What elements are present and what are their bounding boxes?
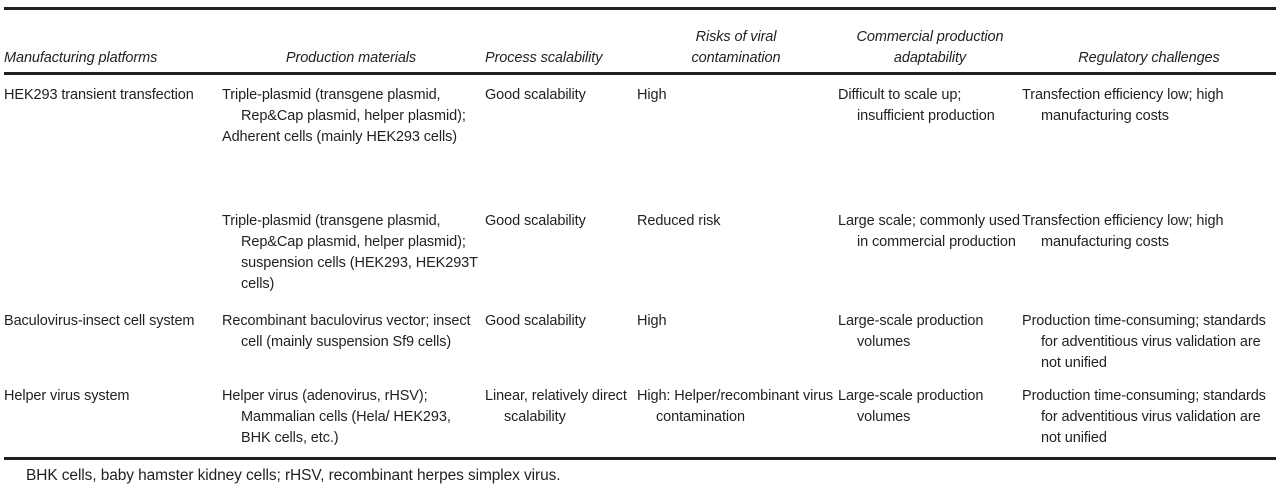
column-header-manufacturing-platforms: Manufacturing platforms [4,48,214,69]
cell-platform: Baculovirus-insect cell system [4,311,214,332]
cell-materials: Triple-plasmid (transgene plasmid, Rep&C… [222,211,480,295]
cell-materials-part-1: Triple-plasmid (transgene plasmid, Rep&C… [222,85,480,127]
cell-platform: HEK293 transient transfection [4,85,214,106]
cell-viral-risk: High [637,85,835,106]
cell-commercial-adaptability: Large scale; commonly used in commercial… [838,211,1022,253]
cell-materials: Helper virus (adenovirus, rHSV); Mammali… [222,386,480,449]
cell-commercial-adaptability: Large-scale production volumes [838,386,1022,428]
cell-viral-risk: High: Helper/recombinant virus contamina… [637,386,835,428]
cell-commercial-adaptability: Difficult to scale up; insufficient prod… [838,85,1022,127]
cell-viral-risk: Reduced risk [637,211,835,232]
cell-regulatory-challenges: Transfection efficiency low; high manufa… [1022,85,1276,127]
column-header-commercial-line-2: adaptability [838,48,1022,69]
cell-materials: Triple-plasmid (transgene plasmid, Rep&C… [222,85,480,148]
cell-scalability: Good scalability [485,211,633,232]
cell-scalability: Good scalability [485,85,633,106]
column-header-production-materials: Production materials [222,48,480,69]
cell-platform: Helper virus system [4,386,214,407]
column-header-viral-line-2: contamination [637,48,835,69]
cell-scalability: Linear, relatively direct scalability [485,386,633,428]
cell-regulatory-challenges: Production time-consuming; standards for… [1022,311,1276,374]
table-footnote: BHK cells, baby hamster kidney cells; rH… [26,466,560,486]
table-header-rule [4,72,1276,75]
cell-materials: Recombinant baculovirus vector; insect c… [222,311,480,353]
cell-commercial-adaptability: Large-scale production volumes [838,311,1022,353]
column-header-regulatory-challenges: Regulatory challenges [1022,48,1276,69]
cell-materials-part-2: Adherent cells (mainly HEK293 cells) [222,127,480,148]
cell-regulatory-challenges: Transfection efficiency low; high manufa… [1022,211,1276,253]
cell-regulatory-challenges: Production time-consuming; standards for… [1022,386,1276,449]
column-header-viral-line-1: Risks of viral [637,27,835,48]
column-header-process-scalability: Process scalability [485,48,633,69]
column-header-commercial-production-adaptability: Commercial production adaptability [838,27,1022,69]
table-bottom-rule [4,457,1276,460]
column-header-risks-of-viral-contamination: Risks of viral contamination [637,27,835,69]
cell-scalability: Good scalability [485,311,633,332]
table-header-row: Manufacturing platforms Production mater… [0,14,1280,69]
table-top-rule [4,7,1276,10]
column-header-commercial-line-1: Commercial production [838,27,1022,48]
cell-viral-risk: High [637,311,835,332]
comparison-table: Manufacturing platforms Production mater… [0,0,1280,501]
